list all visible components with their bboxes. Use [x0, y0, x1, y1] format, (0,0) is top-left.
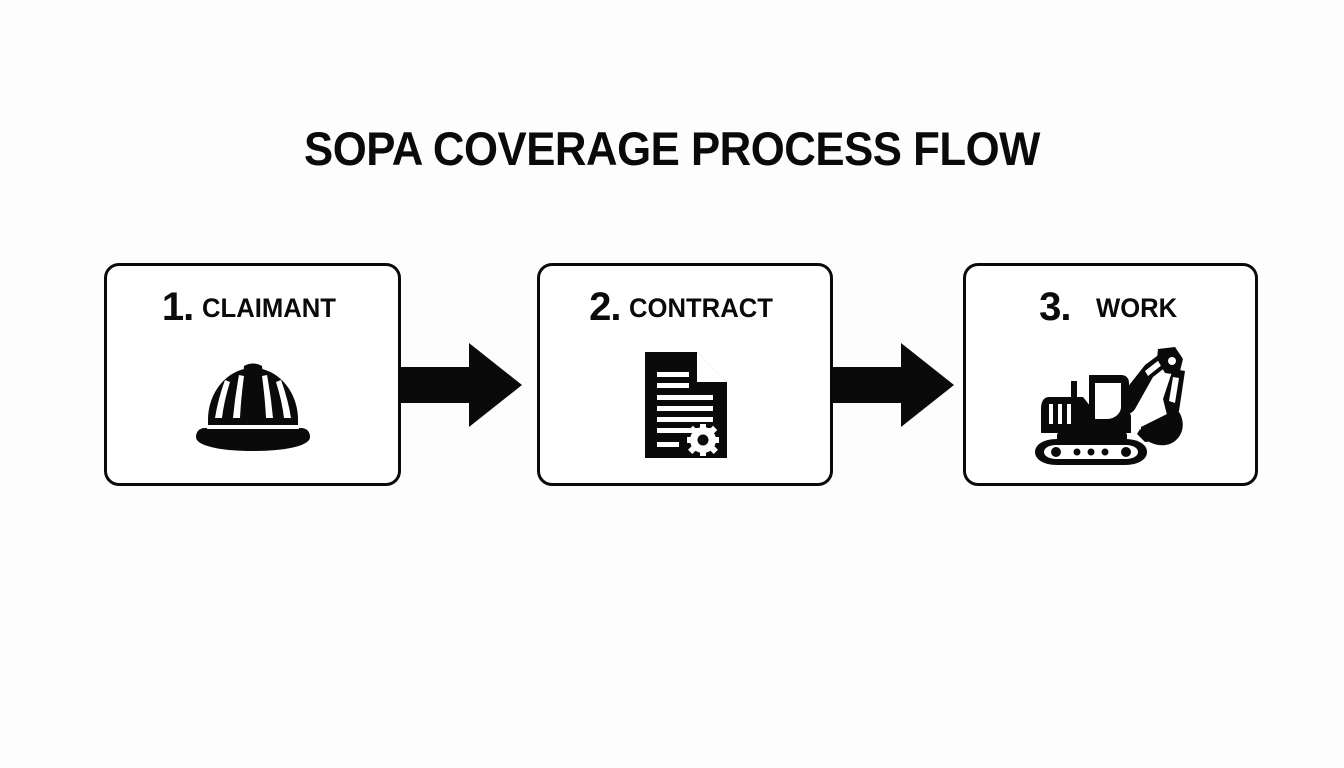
step-icon-slot [540, 342, 830, 472]
step-number: 3. [1039, 285, 1070, 329]
step-word: CLAIMANT [202, 285, 336, 331]
step-icon-slot [107, 342, 398, 472]
step-card-contract[interactable]: 2.CONTRACT [537, 263, 833, 486]
step-label-claimant: 1.CLAIMANT [107, 284, 398, 331]
step-word: WORK [1096, 285, 1177, 331]
step-card-work[interactable]: 3.WORK [963, 263, 1258, 486]
diagram-canvas: SOPA COVERAGE PROCESS FLOW 1.CLAIMANT [0, 0, 1344, 768]
step-number: 2. [589, 285, 620, 329]
step-label-contract: 2.CONTRACT [540, 284, 830, 331]
page-title: SOPA COVERAGE PROCESS FLOW [47, 118, 1297, 180]
step-word: CONTRACT [629, 285, 773, 331]
step-card-claimant[interactable]: 1.CLAIMANT [104, 263, 401, 486]
contract-document-gear-icon [641, 350, 729, 465]
excavator-icon [1027, 341, 1195, 474]
arrow-right-icon-2 [831, 341, 955, 429]
step-icon-slot [966, 342, 1255, 472]
arrow-right-icon-1 [399, 341, 523, 429]
step-label-work: 3.WORK [966, 284, 1255, 331]
hard-hat-icon [195, 358, 311, 457]
step-number: 1. [162, 285, 193, 329]
